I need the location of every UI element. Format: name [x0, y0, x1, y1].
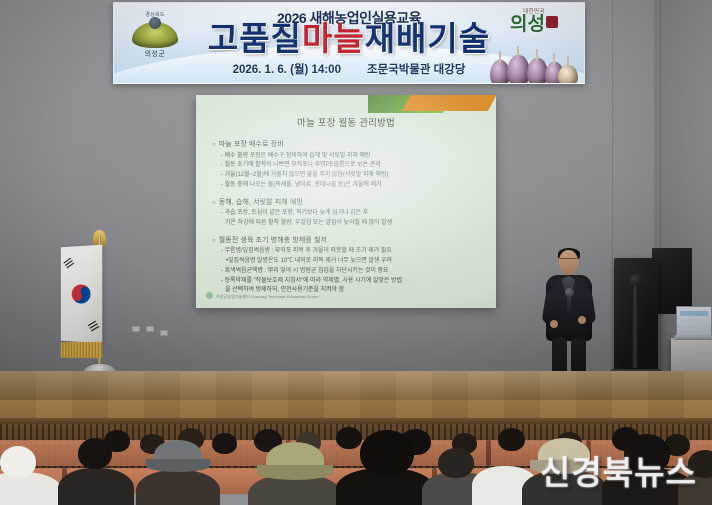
- news-watermark: 신경북뉴스: [540, 446, 697, 494]
- baseball-cap-icon: [266, 442, 324, 478]
- baseball-cap-icon: [154, 440, 202, 470]
- seat-divider: [486, 440, 491, 466]
- photo-scene: 경상북도 의성군 2026 새해농업인실용교육 고품질마늘재배기술 2026. …: [0, 0, 712, 505]
